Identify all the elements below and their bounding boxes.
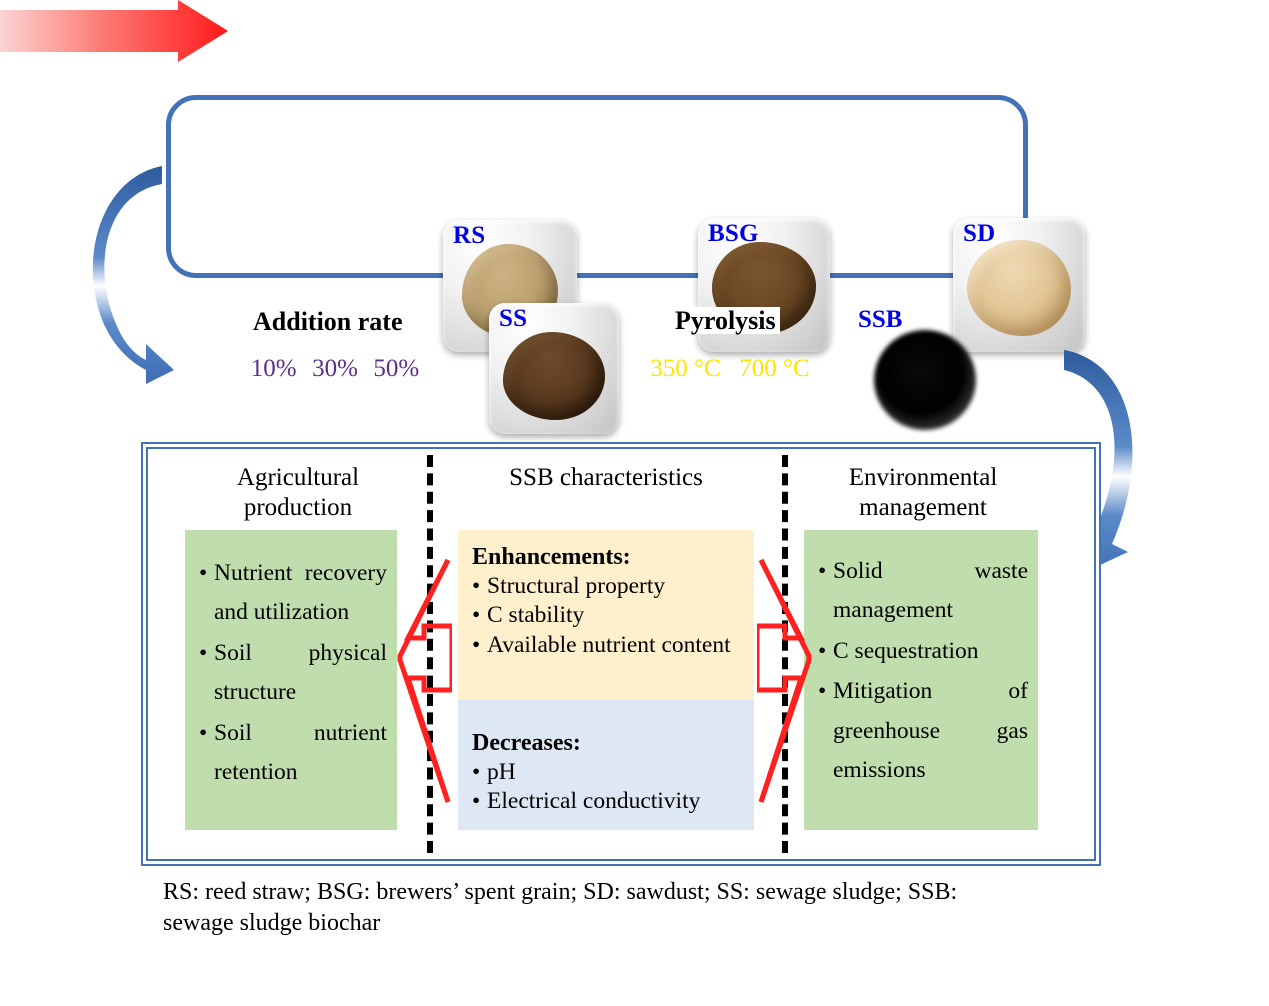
agricultural-production-list: Nutrient recovery and utilization Soil p… [199,554,387,793]
enhancements-heading: Enhancements: [472,544,742,571]
sewage-sludge-tray: SS [489,303,619,434]
feedstock-panel: RS BSG SD [166,95,1028,278]
addition-value-2: 30% [312,355,358,383]
environmental-management-title-line2: management [808,493,1038,523]
list-item: pH [472,758,742,787]
addition-value-1: 10% [251,355,297,383]
agricultural-production-box: Nutrient recovery and utilization Soil p… [185,530,397,830]
ssb-characteristics-title: SSB characteristics [448,463,764,493]
list-item: C stability [472,601,742,630]
feedstock-label-sd: SD [963,220,995,248]
feedstock-label-bsg: BSG [708,220,759,248]
sewage-sludge-sample-image [503,332,605,420]
graphical-abstract: RS BSG SD [0,0,1269,1006]
agricultural-production-title-line2: production [188,493,408,523]
list-item: Nutrient recovery and utilization [199,554,387,633]
outcomes-panel: Agricultural production Nutrient recover… [146,447,1096,861]
recycle-arrow-left-icon [88,148,228,388]
environmental-management-title-line1: Environmental [808,463,1038,493]
decreases-list: pH Electrical conductivity [472,758,742,817]
list-item: Electrical conductivity [472,787,742,816]
connector-arrow-right-icon [757,556,813,806]
environmental-management-title: Environmental management [808,463,1038,523]
list-item: Available nutrient content [472,631,742,660]
addition-value-3: 50% [373,355,419,383]
list-item: Soil nutrient retention [199,714,387,793]
agricultural-production-title: Agricultural production [188,463,408,523]
feedstock-label-rs: RS [453,222,485,250]
addition-rate-values: 10% 30% 50% [243,338,471,400]
ssb-decreases-box: Decreases: pH Electrical conductivity [458,700,754,830]
sewage-sludge-biochar-sample-image [874,330,976,430]
pyrolysis-arrow [0,0,228,62]
connector-arrow-left-icon [396,556,452,806]
agricultural-production-title-line1: Agricultural [188,463,408,493]
enhancements-list: Structural property C stability Availabl… [472,572,742,660]
environmental-management-list: Solid waste management C sequestration M… [818,552,1028,791]
list-item: Soil physical structure [199,634,387,713]
environmental-management-box: Solid waste management C sequestration M… [804,530,1038,830]
pyrolysis-label: Pyrolysis [671,307,780,334]
list-item: Structural property [472,572,742,601]
sewage-sludge-label: SS [499,305,527,333]
pyrolysis-temp-2: 700 °C [739,355,809,383]
sawdust-sample-image [967,240,1071,336]
list-item: Mitigation of greenhouse gas emissions [818,672,1028,790]
pyrolysis-temp-1: 350 °C [650,355,720,383]
sewage-sludge-biochar-label: SSB [858,306,902,334]
figure-caption: RS: reed straw; BSG: brewers’ spent grai… [163,877,1023,938]
addition-rate-label: Addition rate [249,308,407,335]
decreases-heading: Decreases: [472,730,742,757]
list-item: C sequestration [818,632,1028,671]
list-item: Solid waste management [818,552,1028,631]
ssb-enhancements-box: Enhancements: Structural property C stab… [458,530,754,700]
